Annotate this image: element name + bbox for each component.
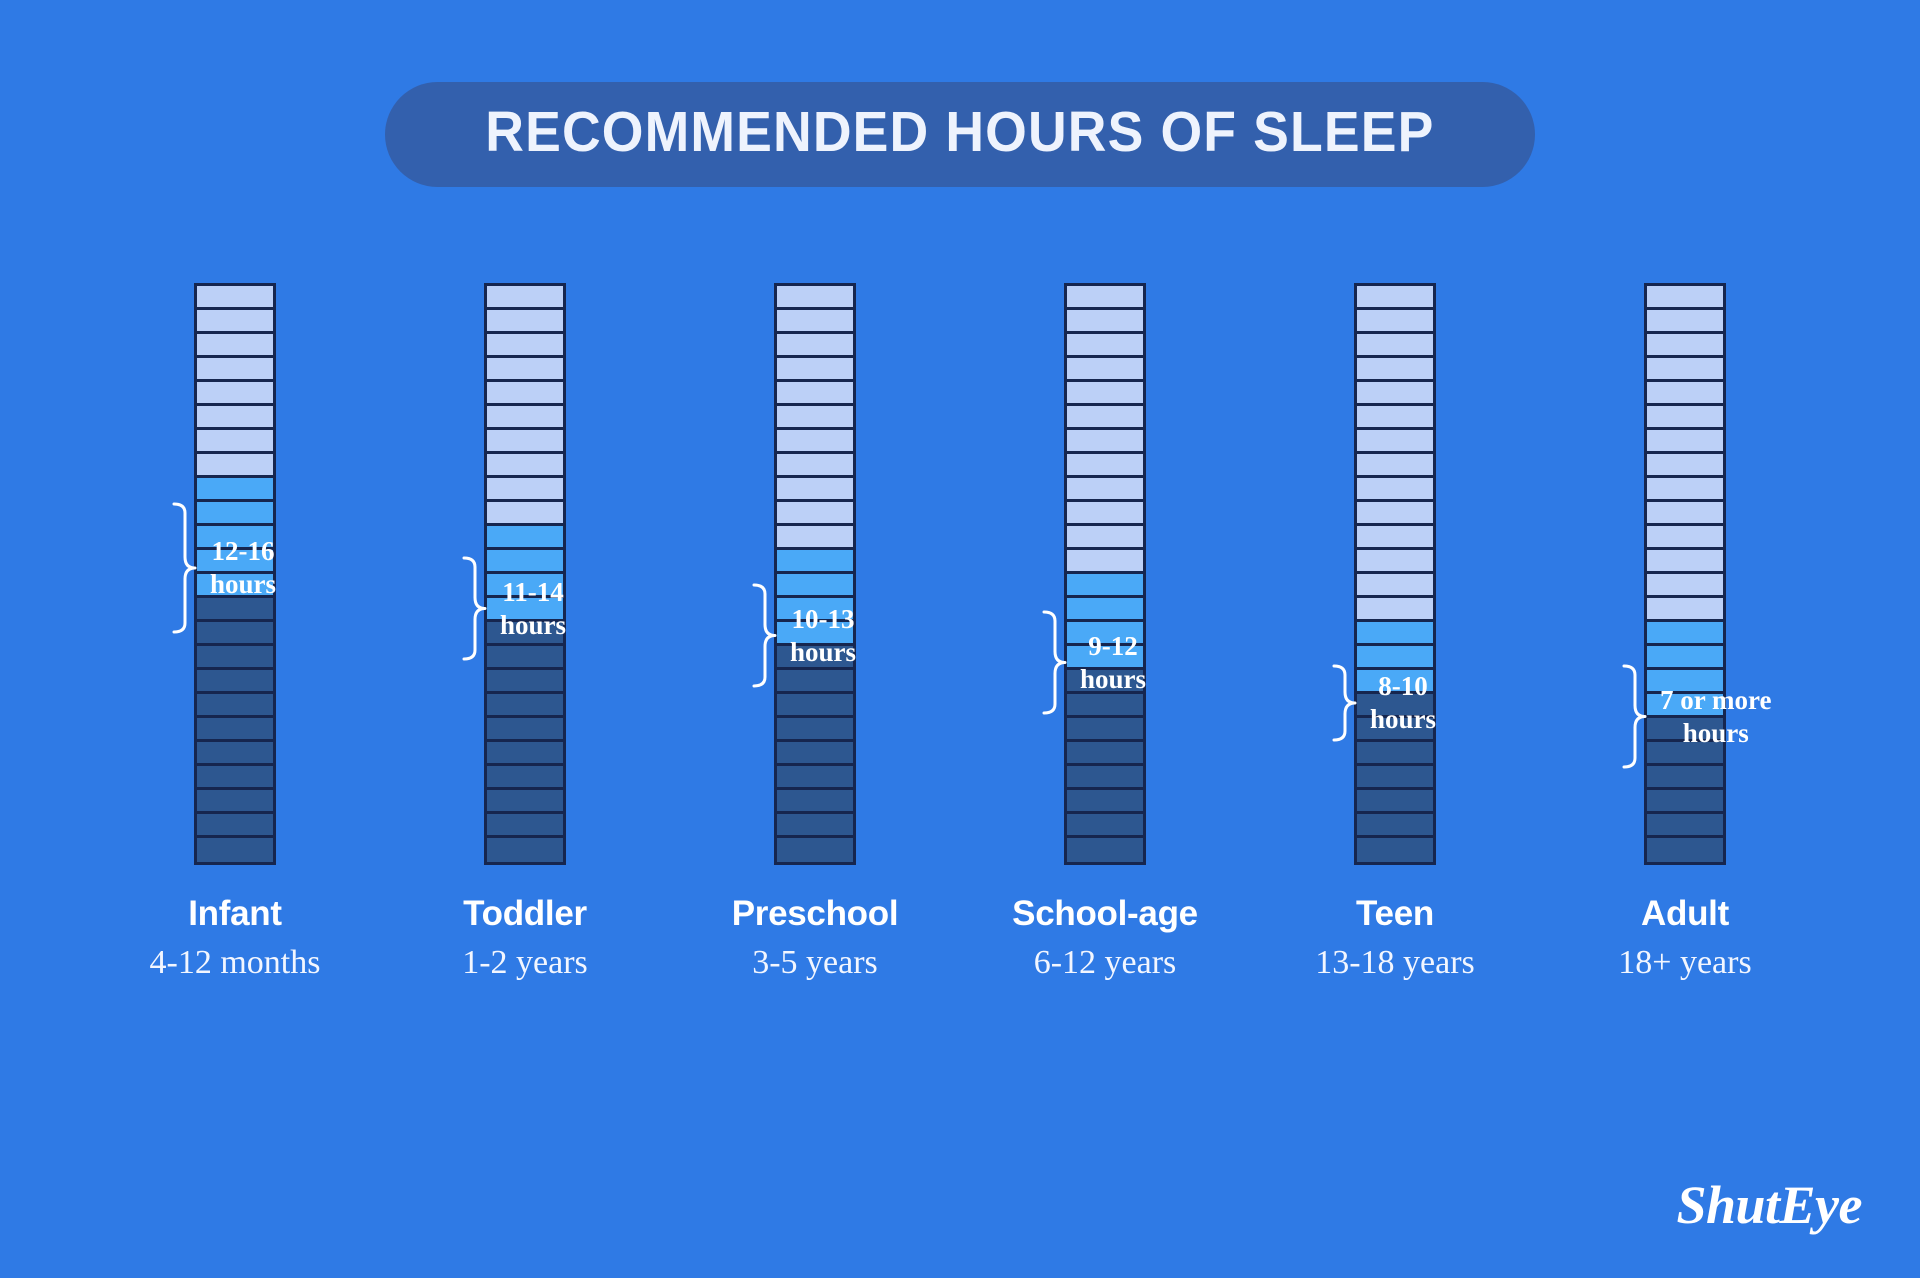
hour-bar [774,283,856,865]
hour-cell-light [1067,502,1143,526]
hour-bar [1354,283,1436,865]
hour-cell-light [777,454,853,478]
hour-cell-light [1357,478,1433,502]
sleep-column-adult: 7 or morehoursAdult18+ years [1540,283,1830,984]
hour-cell-dark [1067,742,1143,766]
hour-cell-light [1067,382,1143,406]
hour-cell-bright [777,574,853,598]
hour-cell-dark [197,790,273,814]
hour-cell-dark [1647,766,1723,790]
hour-cell-dark [197,694,273,718]
sleep-columns-row: 12-16hoursInfant4-12 months11-14hoursTod… [0,283,1920,984]
hour-cell-bright [1067,646,1143,670]
hour-cell-dark [197,766,273,790]
hour-cell-light [777,382,853,406]
hour-cell-dark [1067,790,1143,814]
hour-cell-light [1357,574,1433,598]
hour-cell-light [487,358,563,382]
hour-cell-light [777,334,853,358]
hour-cell-dark [777,742,853,766]
hour-cell-dark [1357,814,1433,838]
sleep-column-toddler: 11-14hoursToddler1-2 years [380,283,670,984]
age-group-name: Teen [1315,893,1475,934]
age-group-range: 4-12 months [150,942,321,983]
hour-cell-dark [1647,742,1723,766]
hour-bar [1644,283,1726,865]
hour-bar [1064,283,1146,865]
hour-cell-bright [197,502,273,526]
hour-cell-light [777,526,853,550]
age-group-name: Infant [150,893,321,934]
hour-cell-light [487,478,563,502]
hour-cell-light [1067,478,1143,502]
page-title: RECOMMENDED HOURS OF SLEEP [485,104,1434,161]
age-group-range: 13-18 years [1315,942,1475,983]
hour-cell-bright [487,598,563,622]
age-group-name: Preschool [732,893,899,934]
hour-cell-dark [197,622,273,646]
hour-cell-light [1357,382,1433,406]
hour-cell-light [1647,478,1723,502]
hour-cell-dark [777,646,853,670]
hour-cell-bright [1067,622,1143,646]
age-group-range: 3-5 years [732,942,899,983]
column-caption: School-age6-12 years [1012,893,1198,984]
hour-cell-dark [197,814,273,838]
hour-cell-light [1067,454,1143,478]
hour-cell-dark [1647,814,1723,838]
hour-cell-light [197,406,273,430]
hour-cell-light [1647,286,1723,310]
hour-cell-dark [487,742,563,766]
hour-cell-dark [197,670,273,694]
hour-cell-light [487,334,563,358]
hour-cell-light [487,502,563,526]
hour-cell-light [197,358,273,382]
sleep-column-teen: 8-10hoursTeen13-18 years [1250,283,1540,984]
hour-cell-light [777,286,853,310]
hour-cell-light [487,430,563,454]
hour-cell-light [777,358,853,382]
age-group-name: Toddler [462,893,588,934]
hour-cell-bright [1067,574,1143,598]
hour-cell-light [1357,598,1433,622]
hour-cell-dark [487,718,563,742]
hour-cell-bright [777,550,853,574]
hour-cell-light [1647,430,1723,454]
hour-cell-dark [197,718,273,742]
hour-cell-light [1357,406,1433,430]
column-caption: Adult18+ years [1618,893,1751,984]
hour-cell-light [197,286,273,310]
hour-cell-bright [1357,646,1433,670]
hour-cell-dark [1357,838,1433,862]
hour-cell-light [777,478,853,502]
hour-cell-dark [487,838,563,862]
hour-cell-dark [1067,694,1143,718]
hour-cell-light [197,310,273,334]
hour-cell-light [197,382,273,406]
hour-cell-light [487,310,563,334]
hour-cell-dark [1067,670,1143,694]
hour-cell-dark [777,766,853,790]
hour-cell-bright [487,574,563,598]
hour-bar [484,283,566,865]
hour-cell-dark [1647,718,1723,742]
hour-cell-light [1647,502,1723,526]
column-caption: Infant4-12 months [150,893,321,984]
hour-cell-dark [1357,718,1433,742]
title-container: RECOMMENDED HOURS OF SLEEP [0,82,1920,187]
hour-cell-dark [197,742,273,766]
hour-cell-dark [1067,718,1143,742]
hour-cell-light [1647,550,1723,574]
hour-cell-light [1357,358,1433,382]
hour-cell-light [777,430,853,454]
hour-cell-dark [1357,790,1433,814]
hour-cell-light [1647,334,1723,358]
hour-cell-light [1647,406,1723,430]
hour-cell-light [1647,382,1723,406]
hour-cell-light [487,382,563,406]
hour-cell-light [1357,550,1433,574]
hour-cell-light [1067,550,1143,574]
hour-cell-dark [487,790,563,814]
hour-cell-dark [487,766,563,790]
hour-cell-light [1357,286,1433,310]
hour-cell-dark [487,670,563,694]
hour-cell-dark [487,694,563,718]
sleep-column-infant: 12-16hoursInfant4-12 months [90,283,380,984]
hour-cell-bright [1647,694,1723,718]
hour-cell-light [197,430,273,454]
hour-cell-dark [487,646,563,670]
hour-cell-light [197,334,273,358]
hour-cell-light [487,406,563,430]
hour-cell-light [777,310,853,334]
age-group-range: 6-12 years [1012,942,1198,983]
hour-cell-bright [1647,670,1723,694]
hour-cell-dark [777,790,853,814]
sleep-column-school-age: 9-12hoursSchool-age6-12 years [960,283,1250,984]
column-caption: Teen13-18 years [1315,893,1475,984]
age-group-range: 1-2 years [462,942,588,983]
hour-cell-light [1357,334,1433,358]
hour-cell-bright [197,574,273,598]
hour-cell-light [1357,502,1433,526]
hour-cell-bright [1357,670,1433,694]
hour-cell-dark [1357,742,1433,766]
hour-cell-light [777,502,853,526]
hour-cell-dark [777,694,853,718]
hour-cell-dark [1647,790,1723,814]
hour-cell-dark [1067,814,1143,838]
hour-cell-bright [1357,622,1433,646]
title-pill: RECOMMENDED HOURS OF SLEEP [385,82,1535,187]
hour-cell-light [1357,454,1433,478]
hour-cell-light [1357,310,1433,334]
hour-cell-bright [197,478,273,502]
age-group-range: 18+ years [1618,942,1751,983]
hour-cell-light [1357,430,1433,454]
hour-cell-dark [777,838,853,862]
hour-cell-light [1357,526,1433,550]
column-caption: Preschool3-5 years [732,893,899,984]
hour-cell-bright [1647,622,1723,646]
hour-cell-light [487,286,563,310]
shuteye-logo: ShutEye [1676,1174,1862,1236]
hour-cell-bright [197,550,273,574]
hour-cell-light [197,454,273,478]
hour-cell-light [1067,406,1143,430]
infographic-canvas: RECOMMENDED HOURS OF SLEEP 12-16hoursInf… [0,0,1920,1278]
hour-cell-light [1647,574,1723,598]
hour-cell-light [1647,598,1723,622]
sleep-column-preschool: 10-13hoursPreschool3-5 years [670,283,960,984]
hour-cell-light [777,406,853,430]
hour-cell-dark [1357,766,1433,790]
hour-cell-light [1067,430,1143,454]
hour-cell-bright [777,622,853,646]
hour-cell-dark [1067,838,1143,862]
hour-bar [194,283,276,865]
hour-cell-light [1647,310,1723,334]
hour-cell-bright [777,598,853,622]
hour-cell-light [1067,334,1143,358]
hour-cell-dark [777,718,853,742]
age-group-name: School-age [1012,893,1198,934]
hour-cell-bright [197,526,273,550]
column-caption: Toddler1-2 years [462,893,588,984]
hour-cell-light [1647,454,1723,478]
hour-cell-bright [1067,598,1143,622]
hour-cell-dark [1067,766,1143,790]
hour-cell-light [1067,526,1143,550]
hour-cell-dark [777,814,853,838]
hour-cell-light [1647,526,1723,550]
hour-cell-bright [487,526,563,550]
hour-cell-light [487,454,563,478]
hour-cell-dark [487,814,563,838]
hour-cell-light [1067,286,1143,310]
hour-cell-dark [197,838,273,862]
hour-cell-dark [197,598,273,622]
hour-cell-bright [1647,646,1723,670]
hour-cell-dark [487,622,563,646]
age-group-name: Adult [1618,893,1751,934]
hour-cell-dark [1647,838,1723,862]
hour-cell-dark [197,646,273,670]
hour-cell-light [1067,358,1143,382]
hour-cell-dark [777,670,853,694]
hour-cell-dark [1357,694,1433,718]
hour-cell-bright [487,550,563,574]
hour-cell-light [1647,358,1723,382]
hour-cell-light [1067,310,1143,334]
